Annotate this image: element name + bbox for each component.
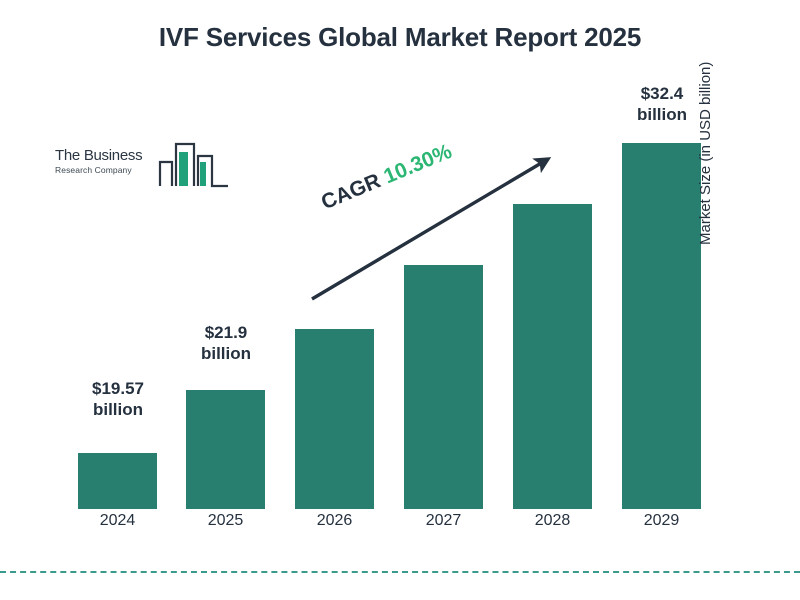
x-tick-2028: 2028 xyxy=(513,512,592,530)
bar-2024 xyxy=(78,453,157,509)
bar-value-2024: $19.57 billion xyxy=(57,378,179,421)
chart-page: IVF Services Global Market Report 2025 T… xyxy=(0,0,800,600)
x-tick-2024: 2024 xyxy=(78,512,157,530)
x-tick-2027: 2027 xyxy=(404,512,483,530)
bar-2028 xyxy=(513,204,592,509)
x-tick-2029: 2029 xyxy=(622,512,701,530)
cagr-value: 10.30% xyxy=(381,140,456,189)
bar-2025 xyxy=(186,390,265,509)
bar-2029 xyxy=(622,143,701,509)
cagr-annotation: CAGR 10.30% xyxy=(318,140,456,215)
footer-divider xyxy=(0,571,800,573)
x-tick-2026: 2026 xyxy=(295,512,374,530)
bar-2026 xyxy=(295,329,374,509)
y-axis-title: Market Size (in USD billion) xyxy=(697,0,714,245)
bar-chart-plot: $19.57 billion $21.9 billion $32.4 billi… xyxy=(0,0,800,600)
bar-value-2025: $21.9 billion xyxy=(165,322,287,365)
bar-2027 xyxy=(404,265,483,509)
x-tick-2025: 2025 xyxy=(186,512,265,530)
cagr-word: CAGR xyxy=(318,169,384,214)
